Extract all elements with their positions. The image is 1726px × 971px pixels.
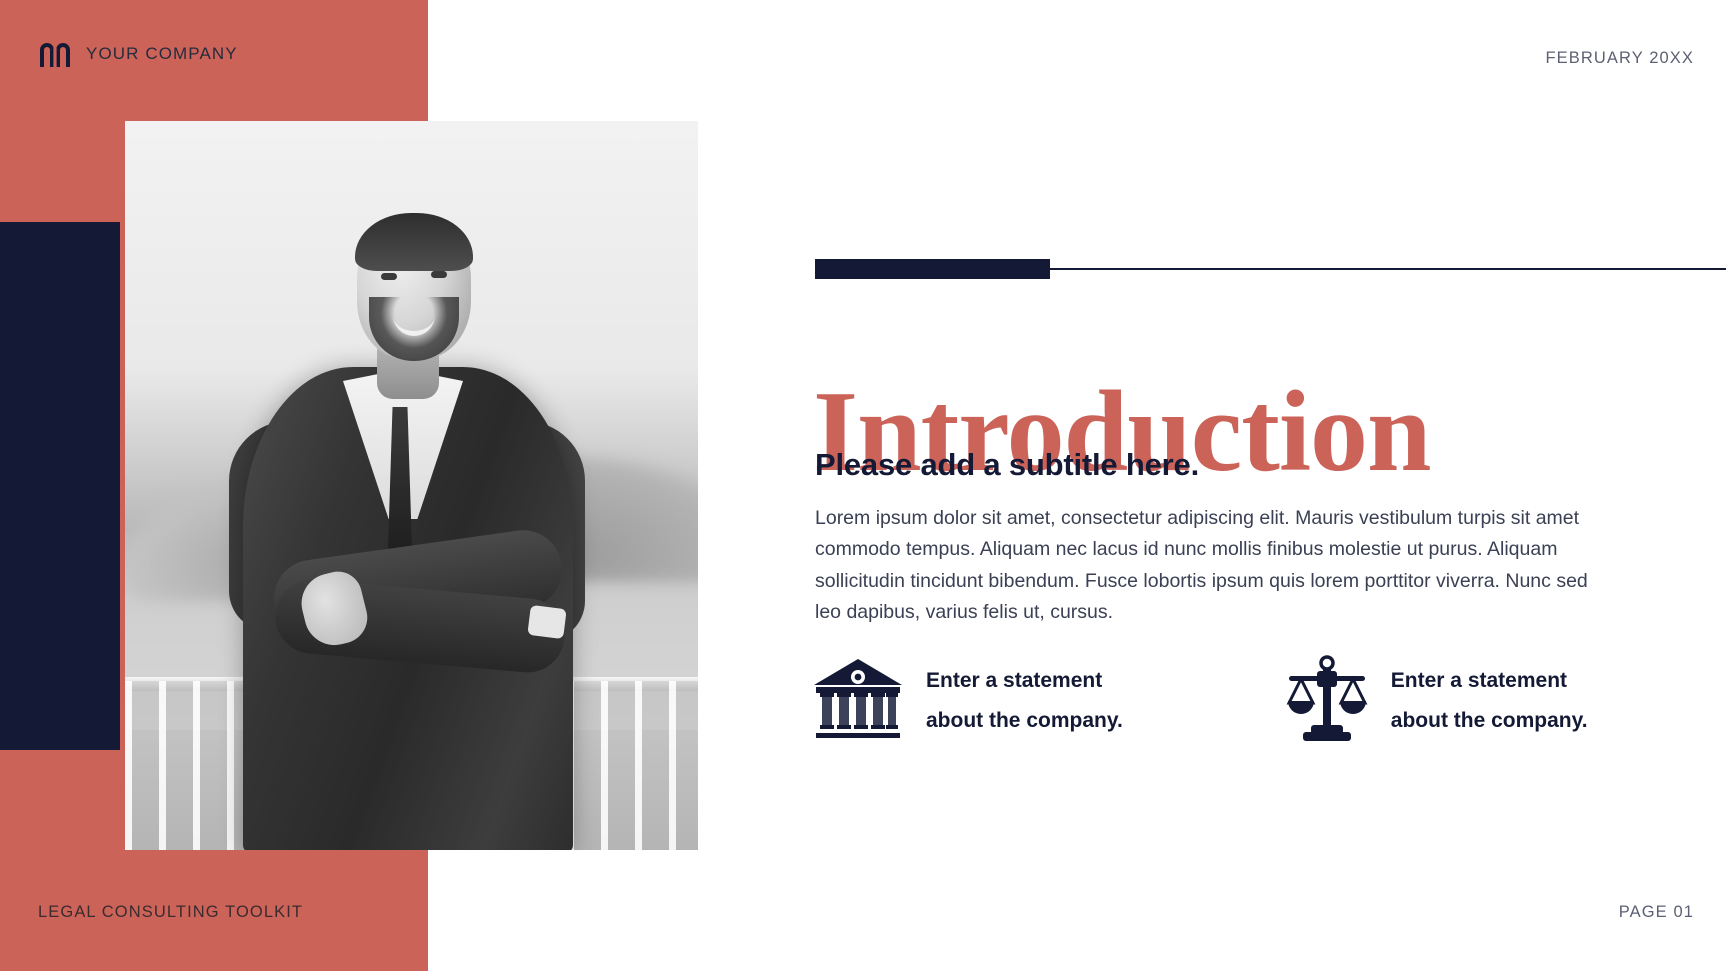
statement-item: Enter a statement about the company. bbox=[1285, 655, 1588, 746]
section-rule-line bbox=[1050, 268, 1726, 270]
photo-figure-cuff bbox=[527, 605, 566, 639]
brand-name: YOUR COMPANY bbox=[86, 44, 238, 64]
page-subtitle: Please add a subtitle here. bbox=[815, 447, 1199, 483]
section-rule bbox=[815, 259, 1726, 281]
arches-monogram-logo-icon bbox=[38, 40, 72, 68]
scales-of-justice-icon bbox=[1285, 655, 1369, 746]
header-date: FEBRUARY 20XX bbox=[1546, 49, 1695, 68]
body-paragraph: Lorem ipsum dolor sit amet, consectetur … bbox=[815, 503, 1605, 629]
section-rule-bar bbox=[815, 259, 1050, 279]
footer-label: LEGAL CONSULTING TOOLKIT bbox=[38, 903, 303, 922]
portrait-photo: *The portrait used is a sample image. bbox=[125, 121, 698, 850]
courthouse-icon bbox=[812, 655, 904, 746]
statement-item: Enter a statement about the company. bbox=[812, 655, 1123, 746]
photo-figure-eye-right bbox=[431, 271, 447, 278]
photo-figure-eye-left bbox=[381, 273, 397, 280]
statement-text: Enter a statement about the company. bbox=[1391, 661, 1588, 741]
photo-figure-hair bbox=[355, 213, 473, 271]
slide-canvas: *The portrait used is a sample image. YO… bbox=[0, 0, 1726, 971]
page-number: PAGE 01 bbox=[1619, 903, 1694, 922]
statement-text: Enter a statement about the company. bbox=[926, 661, 1123, 741]
portrait-photo-image bbox=[125, 121, 698, 850]
decorative-block-navy bbox=[0, 222, 120, 750]
brand-lockup[interactable]: YOUR COMPANY bbox=[38, 40, 238, 68]
statement-list: Enter a statement about the company. Ent… bbox=[812, 655, 1588, 746]
